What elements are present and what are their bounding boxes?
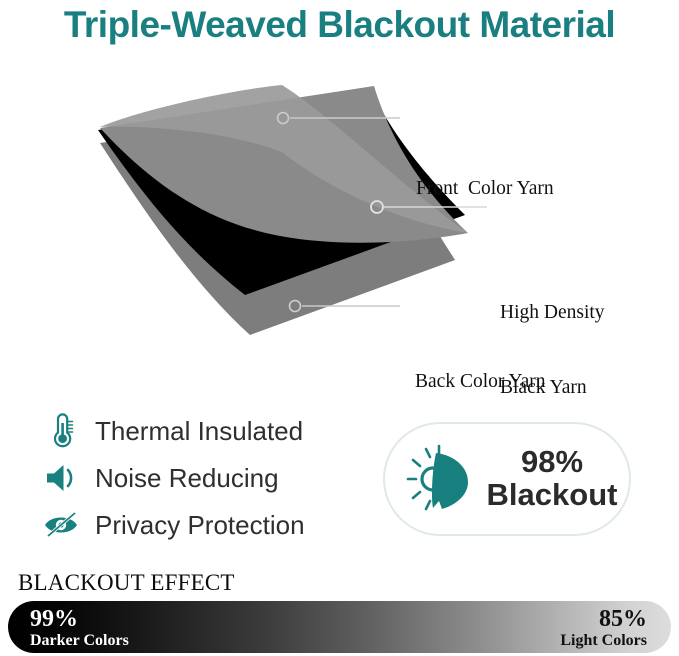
sun-behind-curtain-icon: [405, 440, 483, 518]
badge-percent: 98%: [521, 444, 583, 479]
fabric-layers-diagram: Front Color Yarn High Density Black Yarn…: [0, 70, 679, 360]
blackout-effect-gradient-bar: 99% Darker Colors 85% Light Colors: [8, 601, 671, 653]
badge-word: Blackout: [487, 477, 618, 512]
feature-label-thermal-insulated: Thermal Insulated: [95, 416, 303, 447]
feature-label-noise-reducing: Noise Reducing: [95, 463, 279, 494]
bar-darker-colors-percent: 99%: [30, 607, 129, 632]
blackout-badge: 98% Blackout: [383, 422, 631, 536]
speaker-icon: [42, 458, 82, 498]
feature-item-privacy-protection: Privacy Protection: [42, 502, 362, 548]
bar-light-colors-cell: 85% Light Colors: [560, 607, 647, 650]
feature-item-thermal-insulated: Thermal Insulated: [42, 408, 362, 454]
diagram-label-back-color-yarn: Back Color Yarn: [415, 370, 546, 395]
diagram-label-front-color-yarn: Front Color Yarn: [416, 177, 554, 202]
badge-text: 98% Blackout: [483, 446, 629, 511]
eye-slash-icon: [42, 505, 82, 545]
bar-darker-colors-cell: 99% Darker Colors: [30, 607, 129, 650]
page-title: Triple-Weaved Blackout Material: [0, 4, 679, 46]
diagram-label-high-density-black-yarn: High Density Black Yarn: [500, 251, 605, 451]
bar-darker-colors-label: Darker Colors: [30, 633, 129, 650]
thermometer-icon: [42, 411, 82, 451]
bar-light-colors-label: Light Colors: [560, 633, 647, 650]
feature-label-privacy-protection: Privacy Protection: [95, 510, 305, 541]
diagram-label-middle-line1: High Density: [500, 301, 605, 326]
bar-light-colors-percent: 85%: [560, 607, 647, 632]
feature-list: Thermal Insulated Noise Reducing Privacy…: [42, 408, 362, 549]
blackout-effect-heading: BLACKOUT EFFECT: [18, 570, 235, 596]
feature-item-noise-reducing: Noise Reducing: [42, 455, 362, 501]
